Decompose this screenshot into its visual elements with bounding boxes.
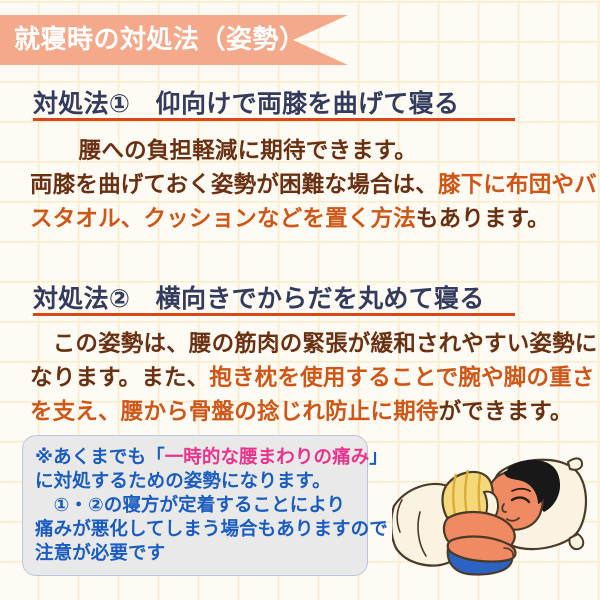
infographic-page: 就寝時の対処法（姿勢） 対処法① 仰向けで両膝を曲げて寝る 腰への負担軽減に期待… bbox=[0, 0, 600, 600]
section-2-line-1: この姿勢は、腰の筋肉の緊張が緩和されやすい姿勢に bbox=[30, 326, 575, 358]
section-rule-1 bbox=[33, 118, 515, 121]
text-run: 注意が必要です bbox=[35, 543, 165, 564]
text-run: ができます。 bbox=[439, 399, 573, 425]
text-run: 腰への負担軽減に期待できます。 bbox=[30, 138, 417, 164]
sleeping-person-illustration bbox=[392, 452, 597, 587]
note-line-3: ①・②の寝方が定着することにより bbox=[35, 494, 355, 518]
note-line-4: 痛みが悪化してしまう場合もありますので bbox=[35, 518, 355, 542]
pillow-corner-bottom bbox=[569, 534, 583, 549]
caution-note-box: ※あくまでも「一時的な腰まわりの痛み」 に対処するための姿勢になります。 ①・②… bbox=[22, 435, 368, 576]
section-1-line-3: スタオル、クッションなどを置く方法もあります。 bbox=[30, 201, 575, 233]
text-run: もあります。 bbox=[416, 206, 550, 232]
section-2-line-3: を支え、腰から骨盤の捻じれ防止に期待ができます。 bbox=[30, 394, 575, 426]
text-run: 痛みが悪化してしまう場合もありますので bbox=[35, 519, 388, 540]
section-2-line-2: なります。また、抱き枕を使用することで腕や脚の重さ bbox=[30, 360, 575, 392]
note-line-5: 注意が必要です bbox=[35, 542, 355, 566]
section-heading-1: 対処法① 仰向けで両膝を曲げて寝る bbox=[33, 84, 533, 120]
text-run: この姿勢は、腰の筋肉の緊張が緩和されやすい姿勢に bbox=[30, 331, 598, 357]
text-run-highlight: を支え、腰から骨盤の捻じれ防止に期待 bbox=[30, 399, 439, 425]
section-rule-2 bbox=[33, 313, 515, 316]
text-run: なります。また、 bbox=[30, 365, 209, 391]
text-run-highlight: スタオル、クッションなどを置く方法 bbox=[30, 206, 416, 232]
section-heading-2: 対処法② 横向きでからだを丸めて寝る bbox=[33, 279, 533, 315]
note-line-2: に対処するための姿勢になります。 bbox=[35, 470, 355, 494]
text-run-highlight: 膝下に布団やバ bbox=[438, 172, 597, 198]
page-title: 就寝時の対処法（姿勢） bbox=[14, 27, 306, 53]
text-run: に対処するための姿勢になります。 bbox=[35, 471, 331, 492]
text-run-accent: 一時的な腰まわりの痛み bbox=[165, 447, 370, 468]
text-run-highlight: 抱き枕を使用することで腕や脚の重さ bbox=[209, 365, 594, 391]
text-run: 両膝を曲げておく姿勢が困難な場合は、 bbox=[30, 172, 438, 198]
note-line-1: ※あくまでも「一時的な腰まわりの痛み」 bbox=[35, 446, 355, 470]
text-run: 」 bbox=[369, 447, 388, 468]
section-1-line-1: 腰への負担軽減に期待できます。 bbox=[30, 133, 575, 165]
text-run: ※あくまでも「 bbox=[35, 447, 165, 468]
text-run: ①・②の寝方が定着することにより bbox=[35, 495, 345, 516]
section-1-line-2: 両膝を曲げておく姿勢が困難な場合は、膝下に布団やバ bbox=[30, 167, 575, 199]
pillow-corner-top bbox=[568, 458, 582, 469]
header-ribbon-banner: 就寝時の対処法（姿勢） bbox=[0, 15, 348, 65]
